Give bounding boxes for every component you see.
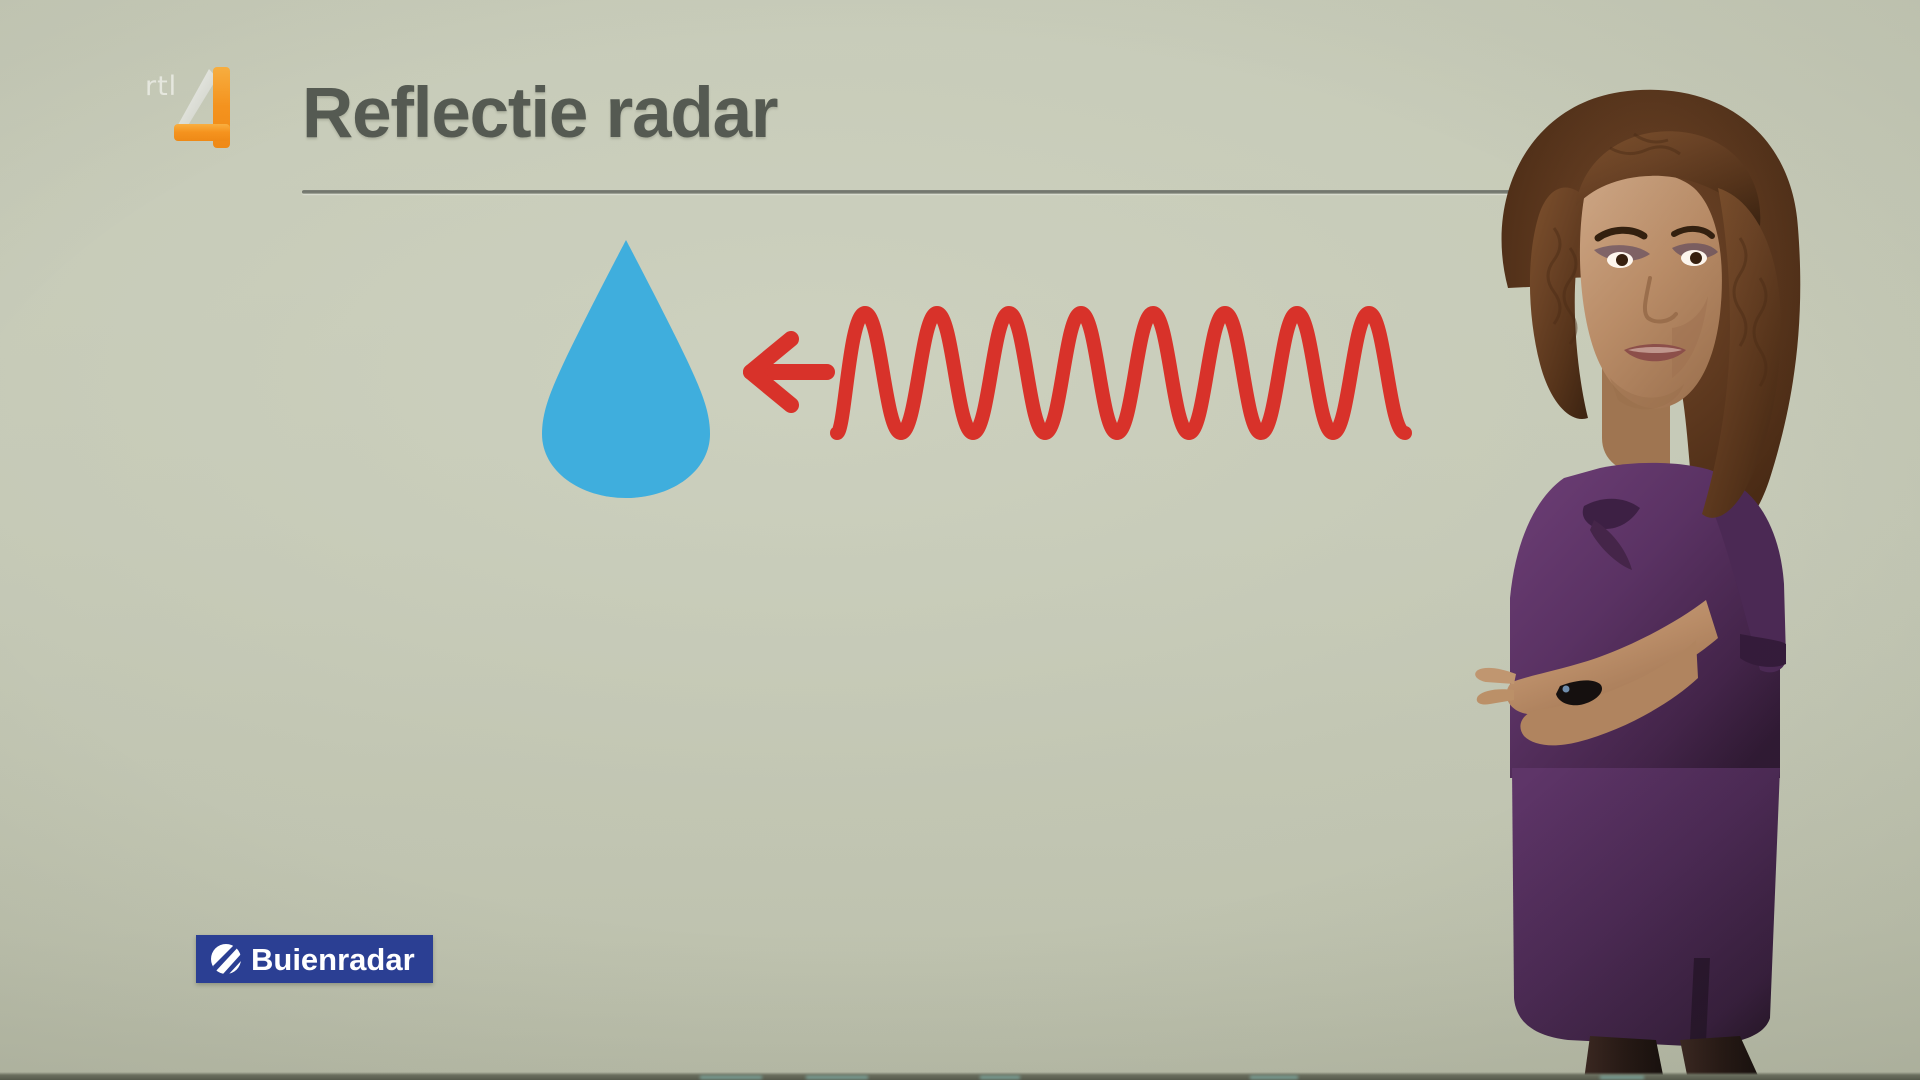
water-droplet-icon — [540, 238, 712, 500]
fingers — [1475, 668, 1516, 684]
face — [1580, 172, 1722, 408]
bottom-glints — [0, 1072, 1920, 1080]
left-arrow-icon — [751, 339, 827, 405]
rtl-four-icon — [143, 62, 251, 152]
clicker-led — [1563, 686, 1570, 693]
pupil-right — [1690, 252, 1702, 264]
skirt — [1512, 768, 1780, 1046]
fingers-2 — [1477, 689, 1514, 704]
buienradar-label: Buienradar — [251, 944, 415, 975]
weather-presenter — [1388, 78, 1920, 1080]
rtl4-logo: rtl — [143, 62, 251, 152]
pupil-left — [1616, 254, 1628, 266]
slide-title: Reflectie radar — [302, 78, 777, 149]
buienradar-globe-icon — [209, 942, 243, 976]
sine-wave-path — [837, 313, 1405, 433]
broadcast-screen: rtl Reflectie radar — [0, 0, 1920, 1080]
title-underline — [302, 190, 1547, 194]
buienradar-watermark: Buienradar — [196, 935, 433, 983]
